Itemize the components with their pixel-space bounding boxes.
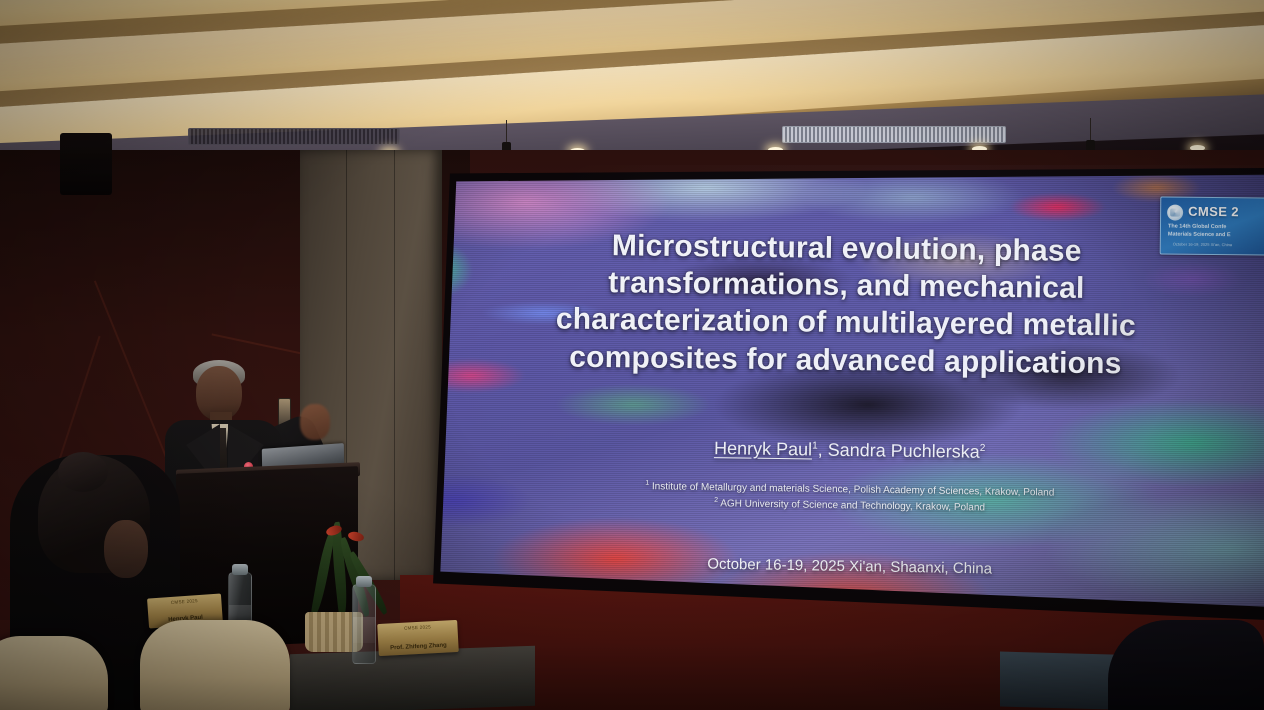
conference-subtitle: The 14th Global Confe Materials Science … — [1168, 222, 1231, 239]
slide-authors: Henryk Paul1, Sandra Puchlerska2 — [532, 435, 1168, 465]
attendee-face — [104, 520, 148, 578]
name-card-right: CMSE 2025 Prof. Zhifeng Zhang — [377, 620, 459, 656]
led-wall-display: Microstructural evolution, phase transfo… — [432, 172, 1264, 618]
chair-front-left — [0, 636, 108, 710]
slide-content: Microstructural evolution, phase transfo… — [432, 172, 1264, 618]
author-2-mark: 2 — [980, 442, 986, 453]
ceiling-speaker — [60, 133, 112, 195]
bottle-cap — [232, 564, 248, 575]
chair-front-center — [140, 620, 290, 710]
presentation-slide: Microstructural evolution, phase transfo… — [432, 172, 1264, 618]
bottle-cap — [356, 576, 372, 587]
front-table-left — [290, 646, 535, 710]
author-2-name: Sandra Puchlerska — [828, 439, 980, 461]
water-bottle-2[interactable] — [352, 584, 376, 664]
name-card-right-org: CMSE 2025 — [377, 623, 457, 632]
affiliation-2-text: AGH University of Science and Technology… — [720, 498, 985, 513]
air-vent-left — [188, 128, 400, 145]
air-vent-right — [782, 126, 1006, 143]
slide-title: Microstructural evolution, phase transfo… — [494, 226, 1198, 383]
bottle-label — [353, 617, 375, 643]
conference-logo-badge: CMSE 2 The 14th Global Confe Materials S… — [1160, 196, 1264, 255]
name-card-left-org: CMSE 2025 — [147, 596, 221, 606]
conference-acronym: CMSE 2 — [1188, 203, 1239, 219]
panel-seam-2 — [394, 150, 395, 580]
attendee-hair-bun — [58, 452, 108, 492]
speaker-hand — [300, 404, 330, 440]
conference-subtitle-line-2: Materials Science and E — [1168, 230, 1231, 239]
conference-subtitle-line-1: The 14th Global Confe — [1168, 222, 1231, 231]
conference-badge-date: October 16-19, 2025 Xi'an, China — [1173, 241, 1232, 247]
slide-affiliations: 1 Institute of Metallurgy and materials … — [532, 477, 1168, 519]
name-card-right-name: Prof. Zhifeng Zhang — [378, 642, 458, 652]
affiliation-2-mark: 2 — [714, 497, 718, 504]
seated-attendee-right — [1108, 620, 1264, 710]
conference-photo: Microstructural evolution, phase transfo… — [0, 0, 1264, 710]
affiliation-1-mark: 1 — [646, 480, 650, 487]
slide-date-location: October 16-19, 2025 Xi'an, Shaanxi, Chin… — [532, 552, 1168, 580]
author-1-name: Henryk Paul — [714, 438, 812, 459]
conference-emblem-icon — [1167, 204, 1183, 220]
